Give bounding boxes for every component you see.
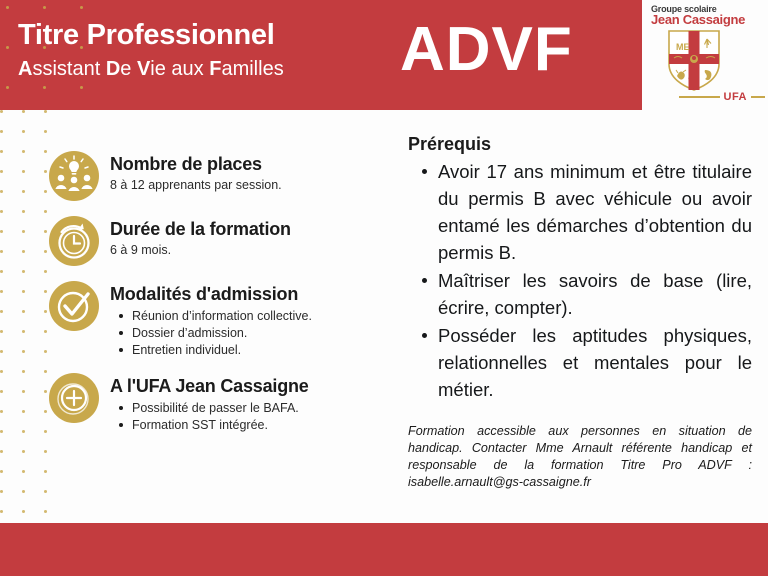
feature-title: Nombre de places: [110, 154, 388, 175]
logo-line-jean-cassaigne: Jean Cassaigne: [651, 12, 745, 27]
ufa-label: UFA: [724, 91, 748, 103]
poster-header: Titre Professionnel Assistant De Vie aux…: [0, 0, 768, 110]
requirement-item: Posséder les aptitudes physiques, relati…: [438, 322, 752, 403]
accessibility-note: Formation accessible aux personnes en si…: [408, 423, 752, 491]
page-title: Titre Professionnel: [18, 18, 398, 52]
feature-title: Modalités d'admission: [110, 284, 388, 305]
prerequisites-heading: Prérequis: [408, 132, 752, 156]
feature-body: Durée de la formation6 à 9 mois.: [110, 215, 388, 258]
ufa-line-left: [679, 96, 720, 98]
feature-title: A l'UFA Jean Cassaigne: [110, 376, 388, 397]
list-item: Possibilité de passer le BAFA.: [130, 400, 388, 417]
feature-body: Modalités d'admissionRéunion d’informati…: [110, 280, 388, 359]
feature-text: 6 à 9 mois.: [110, 242, 388, 258]
acronym-title: ADVF: [400, 14, 573, 86]
plus-circle-icon: [48, 372, 100, 424]
feature-item: Nombre de places8 à 12 apprenants par se…: [48, 150, 388, 202]
feature-list: Réunion d’information collective.Dossier…: [110, 308, 388, 359]
feature-text: 8 à 12 apprenants par session.: [110, 177, 388, 193]
feature-item: Durée de la formation6 à 9 mois.: [48, 215, 388, 267]
poster-page: Titre Professionnel Assistant De Vie aux…: [0, 0, 768, 576]
prerequisites-list: Avoir 17 ans minimum et être titulaire d…: [408, 158, 752, 403]
requirement-item: Maîtriser les savoirs de base (lire, écr…: [438, 267, 752, 321]
feature-item: A l'UFA Jean CassaignePossibilité de pas…: [48, 372, 388, 434]
check-circle-icon: [48, 280, 100, 332]
feature-title: Durée de la formation: [110, 219, 388, 240]
coat-of-arms-shield-icon: ME: [667, 28, 721, 92]
feature-body: A l'UFA Jean CassaignePossibilité de pas…: [110, 372, 388, 434]
list-item: Réunion d’information collective.: [130, 308, 388, 325]
list-item: Dossier d’admission.: [130, 325, 388, 342]
feature-item: Modalités d'admissionRéunion d’informati…: [48, 280, 388, 359]
ufa-badge: UFA: [679, 90, 765, 104]
feature-list: Possibilité de passer le BAFA.Formation …: [110, 400, 388, 434]
feature-body: Nombre de places8 à 12 apprenants par se…: [110, 150, 388, 193]
list-item: Entretien individuel.: [130, 342, 388, 359]
footer-red-band: [0, 523, 768, 576]
prerequisites-column: Prérequis Avoir 17 ans minimum et être t…: [408, 132, 752, 491]
group-idea-icon: [48, 150, 100, 202]
ufa-line-right: [751, 96, 765, 98]
page-subtitle: Assistant De Vie aux Familles: [18, 56, 398, 82]
clock-duration-icon: [48, 215, 100, 267]
title-block: Titre Professionnel Assistant De Vie aux…: [18, 18, 398, 82]
school-logo: Groupe scolaire Jean Cassaigne ME: [645, 2, 765, 108]
list-item: Formation SST intégrée.: [130, 417, 388, 434]
svg-text:ME: ME: [676, 42, 690, 52]
requirement-item: Avoir 17 ans minimum et être titulaire d…: [438, 158, 752, 266]
features-column: Nombre de places8 à 12 apprenants par se…: [48, 150, 388, 447]
